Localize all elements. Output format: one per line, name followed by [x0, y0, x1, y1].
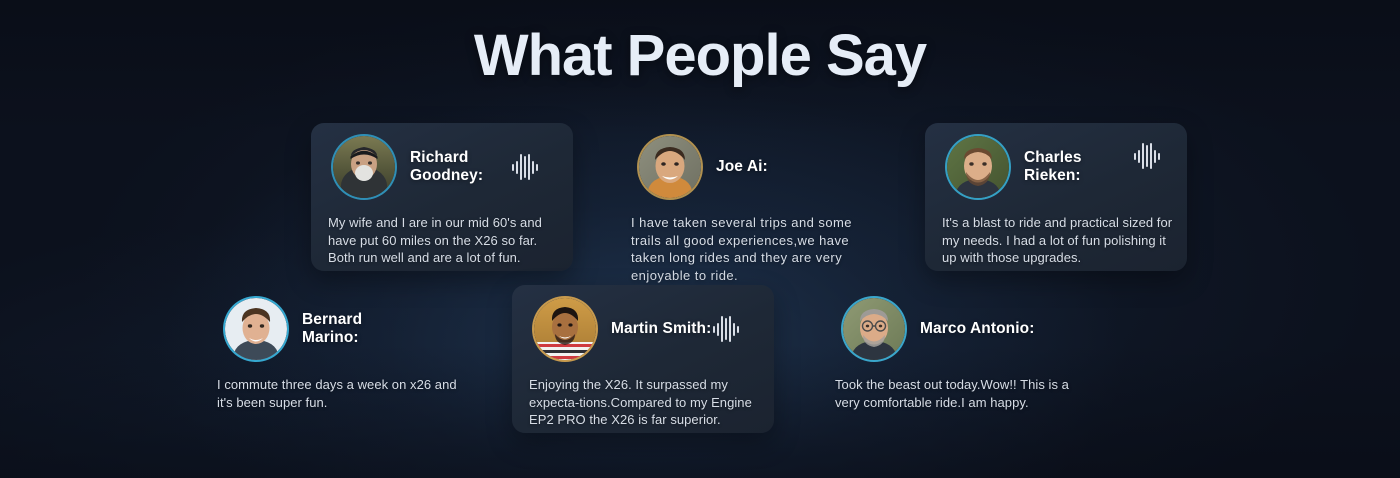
reviewer-name: Charles Rieken: [1024, 149, 1142, 186]
testimonial-quote: It's a blast to ride and practical sized… [942, 214, 1175, 267]
testimonial-card-charles-rieken[interactable]: Charles Rieken: It's a blast to ride and… [925, 123, 1187, 271]
avatar-bernard-marino [225, 298, 287, 360]
testimonial-header: Martin Smith: [512, 285, 774, 373]
testimonial-card-martin-smith[interactable]: Martin Smith: Enjoying the X26. It surpa… [512, 285, 774, 433]
testimonial-quote: Enjoying the X26. It surpassed my expect… [529, 376, 762, 429]
audio-waveform-icon[interactable] [713, 316, 739, 342]
reviewer-name: Marco Antonio: [920, 320, 1034, 339]
testimonials-section: What People Say [0, 0, 1400, 478]
testimonial-card-bernard-marino[interactable]: Bernard Marino: I commute three days a w… [203, 285, 465, 433]
testimonial-quote: My wife and I are in our mid 60's and ha… [328, 214, 561, 267]
testimonial-quote: Took the beast out today.Wow!! This is a… [835, 376, 1075, 411]
audio-waveform-icon[interactable] [512, 154, 538, 180]
avatar-joe-ai [639, 136, 701, 198]
page-title: What People Say [0, 19, 1400, 93]
testimonial-card-richard-goodney[interactable]: Richard Goodney: My wife and I are in ou… [311, 123, 573, 271]
testimonial-header: Joe Ai: [617, 123, 879, 211]
testimonial-quote: I commute three days a week on x26 and i… [217, 376, 457, 411]
avatar-marco-antonio [843, 298, 905, 360]
testimonial-card-marco-antonio[interactable]: Marco Antonio: Took the beast out today.… [821, 285, 1083, 433]
reviewer-name: Joe Ai: [716, 158, 768, 177]
audio-waveform-icon[interactable] [1134, 143, 1160, 169]
reviewer-name: Martin Smith: [611, 320, 711, 339]
reviewer-name: Bernard Marino: [302, 311, 420, 348]
avatar-martin-smith [534, 298, 596, 360]
testimonial-header: Bernard Marino: [203, 285, 465, 373]
testimonial-header: Marco Antonio: [821, 285, 1083, 373]
reviewer-name: Richard Goodney: [410, 149, 528, 186]
avatar-richard-goodney [333, 136, 395, 198]
avatar-charles-rieken [947, 136, 1009, 198]
testimonial-header: Richard Goodney: [311, 123, 573, 211]
testimonial-header: Charles Rieken: [925, 123, 1187, 211]
testimonial-quote: I have taken several trips and some trai… [631, 214, 871, 284]
testimonial-card-joe-ai[interactable]: Joe Ai: I have taken several trips and s… [617, 123, 879, 271]
